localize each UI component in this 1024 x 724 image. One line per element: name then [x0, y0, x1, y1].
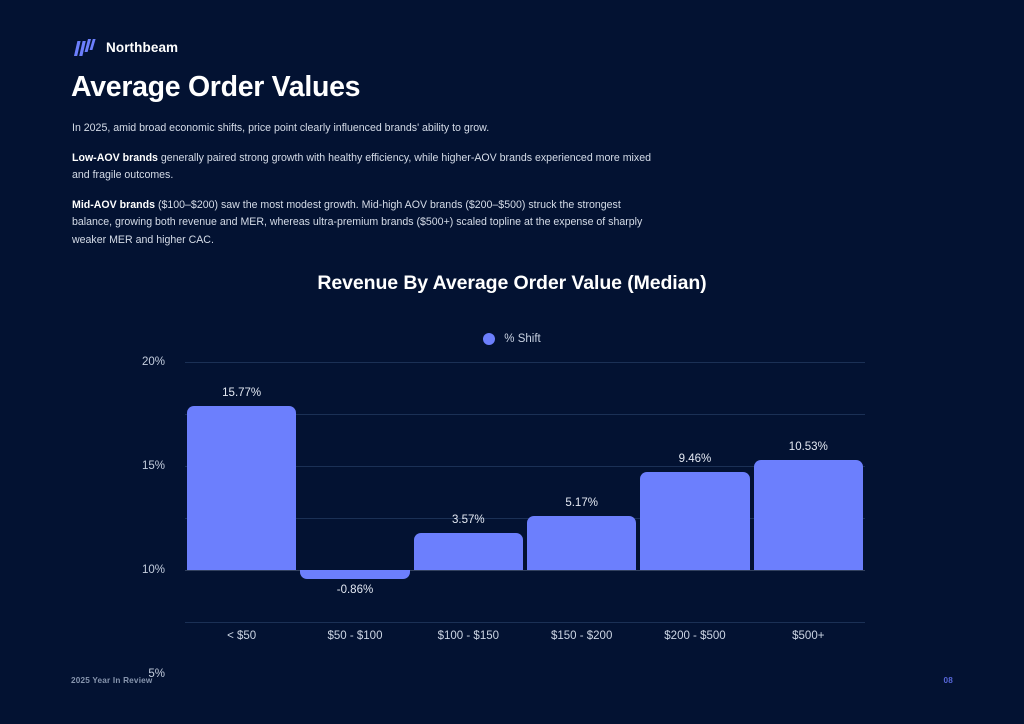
northbeam-slashes-logo-icon	[72, 39, 98, 56]
chart-bars: 15.77%< $50-0.86%$50 - $1003.57%$100 - $…	[185, 362, 865, 622]
chart-bar-value-label: 5.17%	[525, 497, 638, 509]
x-axis-tick-label: $500+	[752, 630, 865, 642]
paragraph-2-rest: generally paired strong growth with heal…	[72, 152, 651, 182]
chart-bar[interactable]	[300, 570, 409, 579]
legend-label: % Shift	[504, 333, 540, 345]
paragraph-2: Low-AOV brands generally paired strong g…	[72, 150, 652, 185]
y-axis-tick-label: 10%	[142, 564, 165, 576]
legend-color-dot-icon	[483, 333, 495, 345]
body-copy: In 2025, amid broad economic shifts, pri…	[72, 120, 652, 249]
chart-plot-area: 20%15%10%5%0%-5% 15.77%< $50-0.86%$50 - …	[185, 362, 865, 622]
chart-bar-group[interactable]: 9.46%$200 - $500	[638, 362, 751, 622]
chart-bar-value-label: -0.86%	[298, 584, 411, 596]
paragraph-3-rest: ($100–$200) saw the most modest growth. …	[72, 199, 642, 246]
slide-root: Northbeam Average Order Values In 2025, …	[0, 0, 1024, 724]
paragraph-2-lead: Low-AOV brands	[72, 152, 158, 164]
chart-bar[interactable]	[754, 460, 863, 570]
chart-bar[interactable]	[414, 533, 523, 570]
chart-legend: % Shift	[0, 333, 1024, 345]
x-axis-tick-label: $100 - $150	[412, 630, 525, 642]
chart-bar-group[interactable]: 15.77%< $50	[185, 362, 298, 622]
x-axis-tick-label: $200 - $500	[638, 630, 751, 642]
chart-bar-group[interactable]: 10.53%$500+	[752, 362, 865, 622]
page-title: Average Order Values	[71, 71, 360, 104]
chart-bar[interactable]	[527, 516, 636, 570]
paragraph-3-lead: Mid-AOV brands	[72, 199, 155, 211]
footer-caption: 2025 Year In Review	[71, 676, 152, 685]
brand-logo: Northbeam	[72, 39, 178, 56]
brand-name: Northbeam	[106, 40, 178, 55]
chart-title: Revenue By Average Order Value (Median)	[0, 272, 1024, 295]
chart-bar-value-label: 15.77%	[185, 387, 298, 399]
chart-gridline: -5%	[185, 622, 865, 623]
paragraph-1: In 2025, amid broad economic shifts, pri…	[72, 120, 652, 138]
chart-bar[interactable]	[187, 406, 296, 570]
y-axis-tick-label: 15%	[142, 460, 165, 472]
page-number: 08	[943, 676, 953, 685]
chart-bar-group[interactable]: 5.17%$150 - $200	[525, 362, 638, 622]
x-axis-tick-label: < $50	[185, 630, 298, 642]
chart-bar-value-label: 10.53%	[752, 441, 865, 453]
x-axis-tick-label: $150 - $200	[525, 630, 638, 642]
chart-bar[interactable]	[640, 472, 749, 570]
chart-bar-value-label: 3.57%	[412, 514, 525, 526]
chart-bar-group[interactable]: 3.57%$100 - $150	[412, 362, 525, 622]
chart-bar-group[interactable]: -0.86%$50 - $100	[298, 362, 411, 622]
chart-bar-value-label: 9.46%	[638, 453, 751, 465]
paragraph-3: Mid-AOV brands ($100–$200) saw the most …	[72, 197, 652, 250]
y-axis-tick-label: 20%	[142, 356, 165, 368]
x-axis-tick-label: $50 - $100	[298, 630, 411, 642]
